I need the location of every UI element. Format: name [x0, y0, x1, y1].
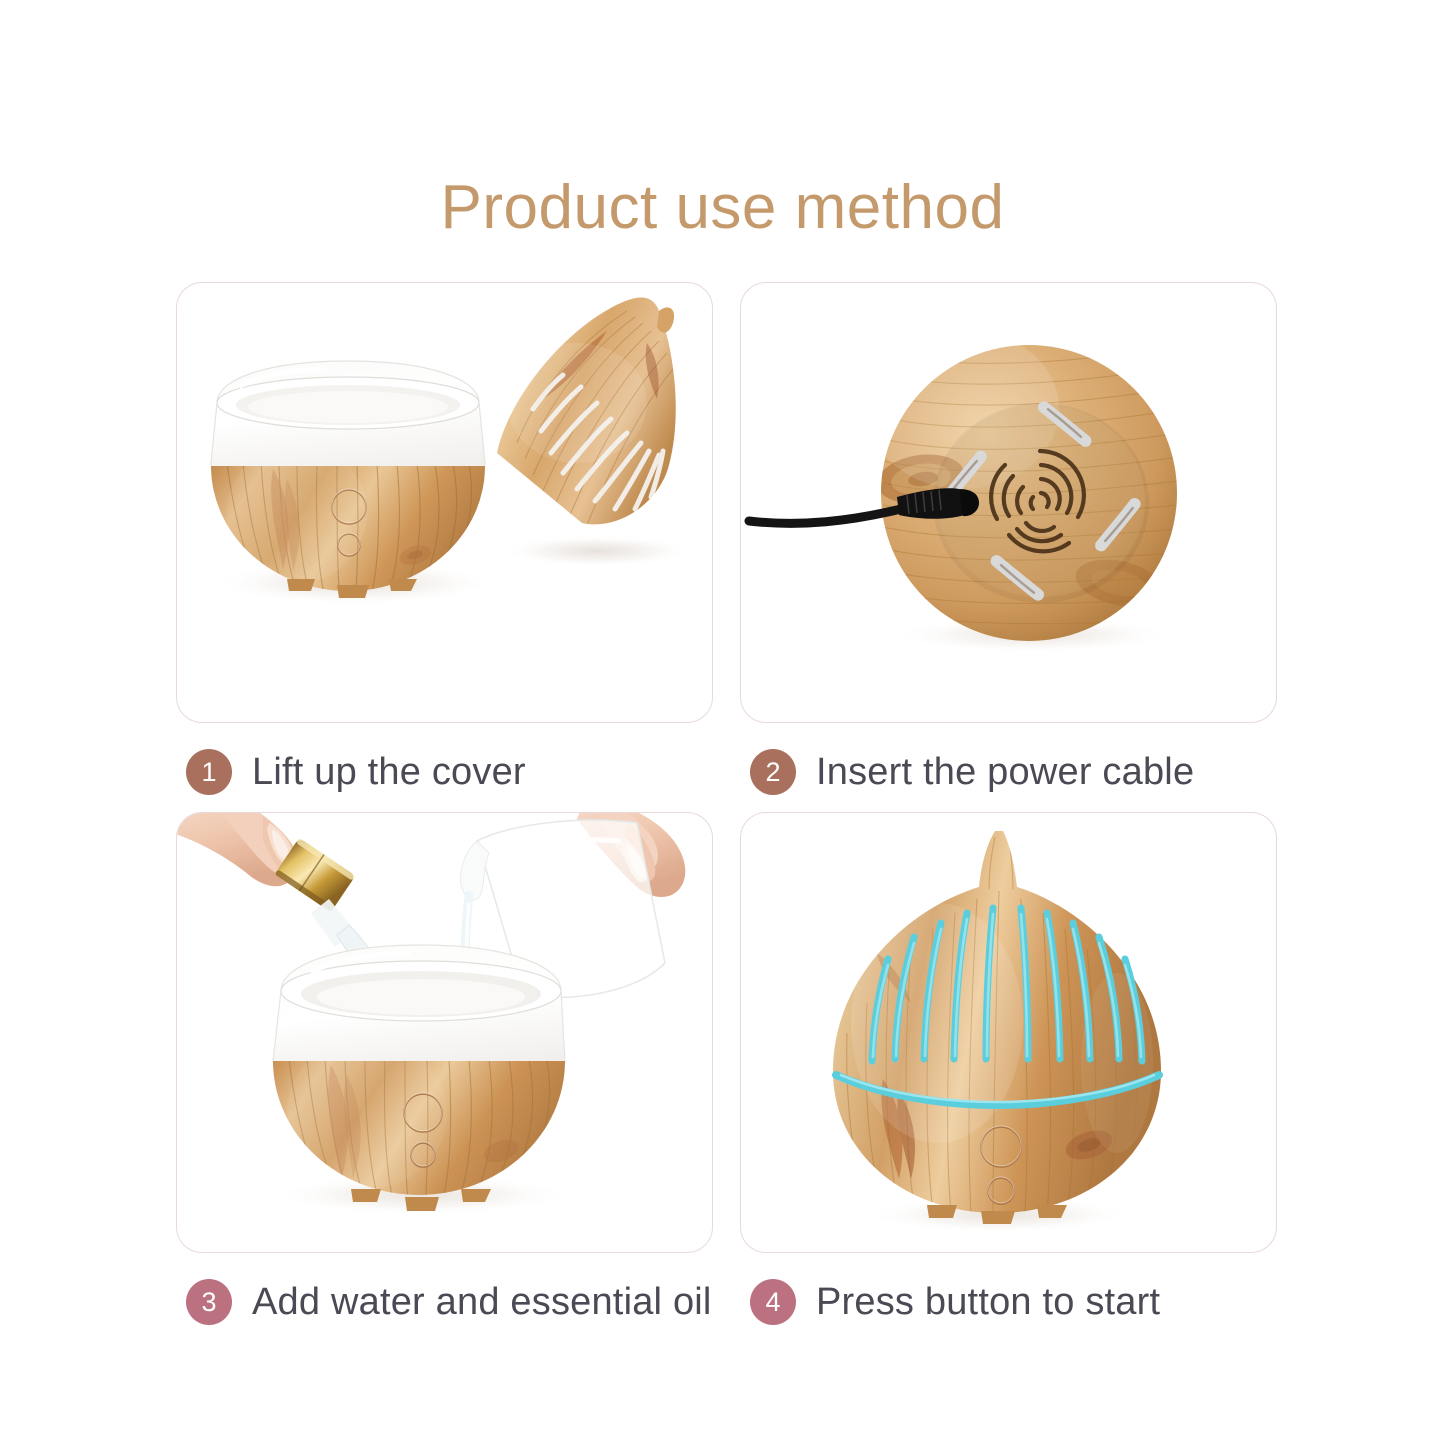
illustration-underside-with-power-cable [741, 283, 1277, 723]
step-1-label: Lift up the cover [252, 751, 526, 794]
power-cable [749, 509, 901, 523]
number-one-badge: 1 [186, 749, 232, 795]
step-2-photo-card [740, 282, 1277, 723]
step-3-photo-card [176, 812, 713, 1253]
diffuser-cover [497, 298, 676, 525]
number-two-badge: 2 [750, 749, 796, 795]
page-title: Product use method [0, 172, 1445, 243]
step-4: 4 Press button to start [740, 812, 1279, 1333]
step-2: 2 Insert the power cable [740, 282, 1279, 803]
step-3: 3 Add water and essential oil [176, 812, 715, 1333]
step-1-caption: 1 Lift up the cover [176, 741, 715, 803]
step-3-caption: 3 Add water and essential oil [176, 1271, 715, 1333]
illustration-adding-water-and-oil [177, 813, 713, 1253]
steps-grid: 1 Lift up the cover [176, 282, 1272, 1332]
step-4-photo-card [740, 812, 1277, 1253]
illustration-base-and-detached-cover [177, 283, 713, 723]
number-four-badge: 4 [750, 1279, 796, 1325]
step-2-caption: 2 Insert the power cable [740, 741, 1279, 803]
step-2-label: Insert the power cable [816, 751, 1194, 794]
number-three-badge: 3 [186, 1279, 232, 1325]
step-4-caption: 4 Press button to start [740, 1271, 1279, 1333]
step-3-label: Add water and essential oil [252, 1281, 712, 1324]
step-1: 1 Lift up the cover [176, 282, 715, 803]
illustration-assembled-glowing [741, 813, 1277, 1253]
step-4-label: Press button to start [816, 1281, 1160, 1324]
step-1-photo-card [176, 282, 713, 723]
